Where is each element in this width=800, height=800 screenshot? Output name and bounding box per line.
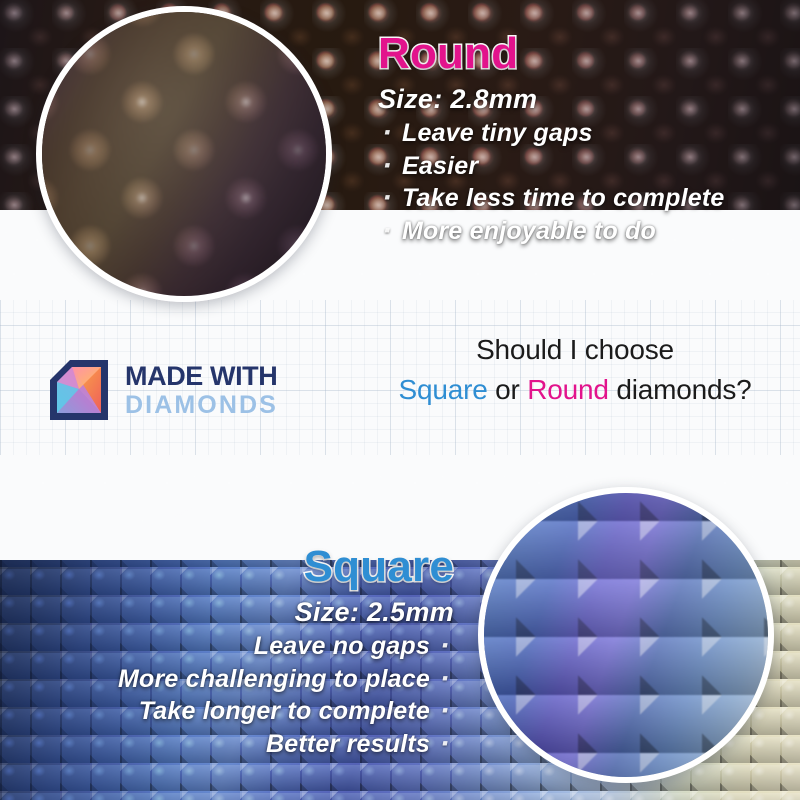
diamond-gem-icon <box>46 358 112 422</box>
list-item: More challenging to place <box>14 663 454 696</box>
brand-name-bottom: DIAMONDS <box>125 393 278 418</box>
square-size-line: Size: 2.5mm <box>14 597 454 628</box>
keyword-square: Square <box>398 374 487 405</box>
center-band: MADE WITH DIAMONDS Should I choose Squar… <box>0 300 800 460</box>
question-connector: or <box>488 374 528 405</box>
list-item: More enjoyable to do <box>378 215 788 248</box>
round-size-line: Size: 2.8mm <box>378 84 788 115</box>
round-title: Round <box>378 32 788 76</box>
square-title: Square <box>14 545 454 589</box>
list-item: Take less time to complete <box>378 182 788 215</box>
question-suffix: diamonds? <box>609 374 752 405</box>
question-line-2: Square or Round diamonds? <box>360 370 790 410</box>
brand-name-top: MADE WITH <box>125 363 278 390</box>
round-closeup-circle <box>36 6 332 302</box>
square-text-block: Square Size: 2.5mm Leave no gaps More ch… <box>14 545 454 760</box>
headline-question: Should I choose Square or Round diamonds… <box>360 330 790 410</box>
infographic-canvas: Round Size: 2.8mm Leave tiny gaps Easier… <box>0 0 800 800</box>
list-item: Better results <box>14 728 454 761</box>
brand-wordmark: MADE WITH DIAMONDS <box>125 363 278 418</box>
round-text-block: Round Size: 2.8mm Leave tiny gaps Easier… <box>378 32 788 247</box>
square-closeup-photo <box>478 487 774 783</box>
list-item: Easier <box>378 150 788 183</box>
keyword-round: Round <box>527 374 609 405</box>
round-closeup-photo <box>36 6 332 302</box>
square-feature-list: Leave no gaps More challenging to place … <box>14 630 454 760</box>
list-item: Take longer to complete <box>14 695 454 728</box>
square-closeup-circle <box>478 487 774 783</box>
brand-logo: MADE WITH DIAMONDS <box>46 358 278 422</box>
list-item: Leave tiny gaps <box>378 117 788 150</box>
list-item: Leave no gaps <box>14 630 454 663</box>
question-line-1: Should I choose <box>360 330 790 370</box>
round-feature-list: Leave tiny gaps Easier Take less time to… <box>378 117 788 247</box>
